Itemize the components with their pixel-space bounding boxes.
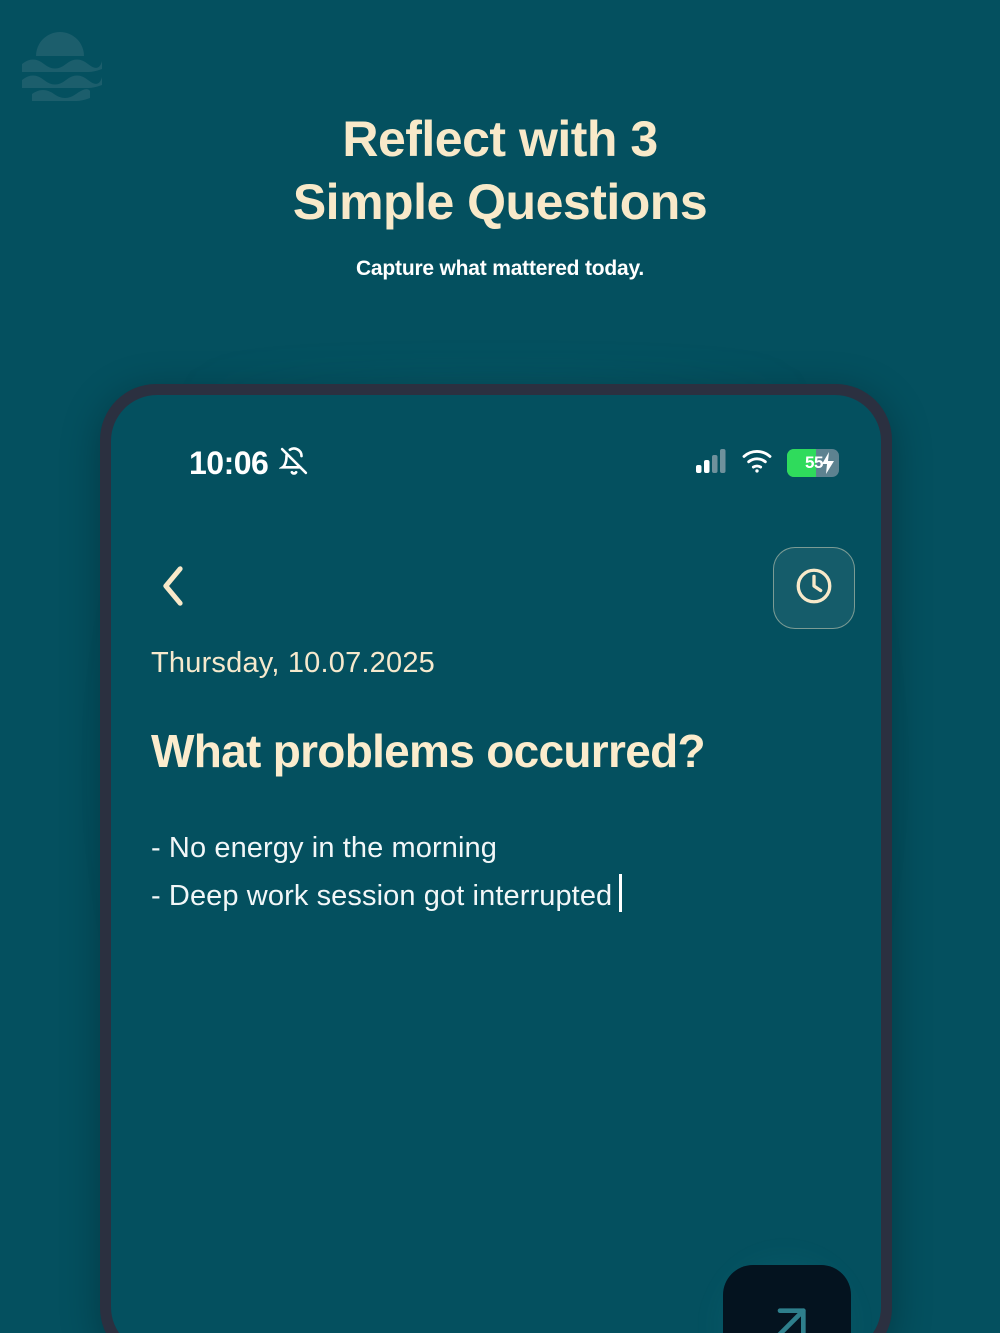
entry-date: Thursday, 10.07.2025 bbox=[151, 647, 841, 680]
arrow-next-icon bbox=[759, 1299, 815, 1333]
text-cursor bbox=[619, 874, 622, 912]
phone-screen: 10:06 bbox=[111, 395, 881, 1333]
entry-answer-line: - Deep work session got interrupted bbox=[151, 872, 622, 920]
entry-answer-line: - No energy in the morning bbox=[151, 824, 622, 872]
chevron-left-icon bbox=[158, 563, 188, 614]
next-button[interactable] bbox=[723, 1265, 851, 1333]
wifi-icon bbox=[741, 448, 773, 479]
bell-off-icon bbox=[279, 446, 309, 481]
cellular-signal-icon bbox=[695, 448, 727, 479]
battery-charging-icon: 55 bbox=[787, 449, 839, 477]
phone-frame: 10:06 bbox=[100, 384, 892, 1333]
promo-subtitle: Capture what mattered today. bbox=[0, 257, 1000, 281]
promo-title-line-2: Simple Questions bbox=[0, 171, 1000, 234]
status-bar-left: 10:06 bbox=[189, 445, 309, 482]
entry-content: Thursday, 10.07.2025 What problems occur… bbox=[111, 647, 881, 920]
nav-bar bbox=[111, 543, 881, 633]
clock-icon bbox=[793, 565, 835, 612]
back-button[interactable] bbox=[151, 563, 195, 613]
charging-bolt-icon bbox=[822, 452, 834, 477]
promo-title-line-1: Reflect with 3 bbox=[0, 108, 1000, 171]
status-bar: 10:06 bbox=[111, 441, 881, 485]
entry-question: What problems occurred? bbox=[151, 724, 841, 778]
promo-title: Reflect with 3 Simple Questions bbox=[0, 108, 1000, 234]
status-time: 10:06 bbox=[189, 445, 268, 482]
history-button[interactable] bbox=[773, 547, 855, 629]
promo-header: Reflect with 3 Simple Questions Capture … bbox=[0, 108, 1000, 281]
sunset-waves-logo-icon bbox=[14, 22, 106, 102]
status-bar-right: 55 bbox=[695, 448, 839, 479]
promo-screenshot: Reflect with 3 Simple Questions Capture … bbox=[0, 0, 1000, 1333]
entry-answer-input[interactable]: - No energy in the morning - Deep work s… bbox=[151, 824, 622, 920]
entry-answer-line-text: - Deep work session got interrupted bbox=[151, 880, 612, 912]
